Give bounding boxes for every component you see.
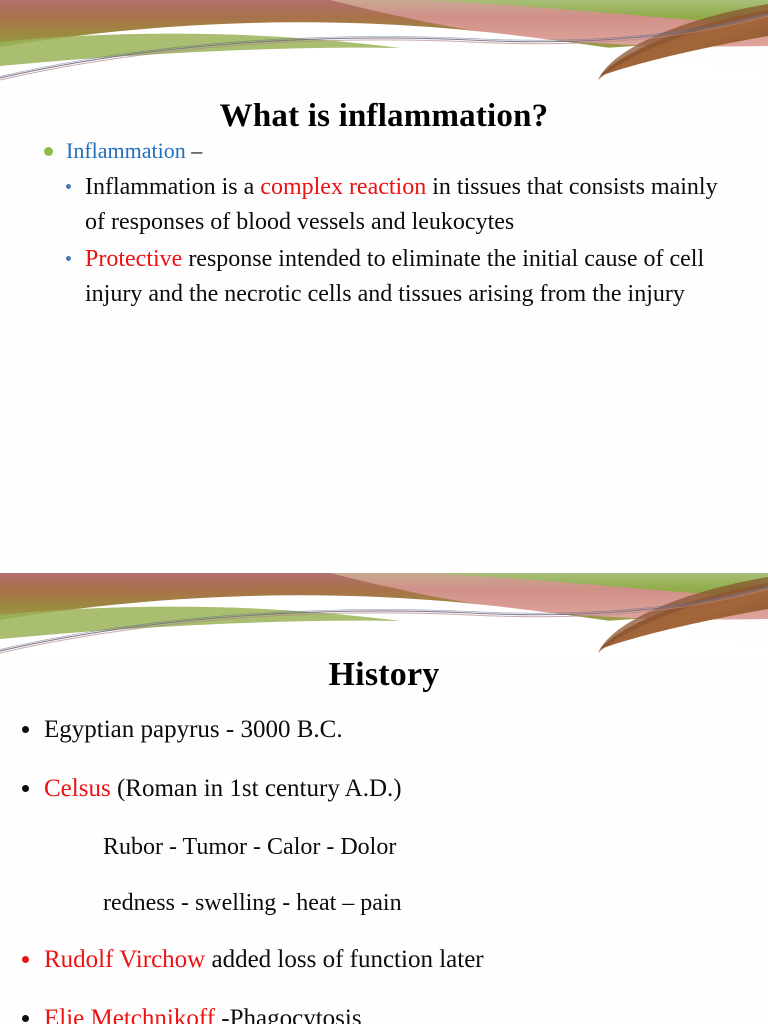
- green-dot-icon: [44, 147, 53, 156]
- slide-inflammation: What is inflammation? Inflammation – Inf…: [0, 0, 768, 570]
- bullet-text: Inflammation: [66, 138, 191, 163]
- black-dot-icon: [22, 785, 29, 792]
- list-item-text: added loss of function later: [205, 946, 483, 973]
- blue-dot-icon: [66, 184, 71, 189]
- bullet-level1-inflammation: Inflammation –: [0, 138, 768, 164]
- slide-history: History Egyptian papyrus - 3000 B.C. Cel…: [0, 573, 768, 1024]
- list-item-text: Rubor - Tumor - Calor - Dolor: [103, 834, 396, 860]
- bullet-dash: –: [191, 138, 202, 163]
- bullet-text-segment: Inflammation is a: [85, 174, 260, 200]
- slide-2-header-decoration: [0, 573, 768, 659]
- page-title: History: [0, 656, 768, 693]
- list-item-text: Egyptian papyrus - 3000 B.C.: [44, 716, 343, 743]
- list-item: Elie Metchnikoff -Phagocytosis: [0, 1004, 768, 1024]
- bullet-level2-definition: Inflammation is a complex reaction in ti…: [0, 170, 768, 240]
- red-dot-icon: [22, 956, 29, 963]
- page-title: What is inflammation?: [0, 98, 768, 134]
- blue-dot-icon: [66, 256, 71, 261]
- bullet-text-highlight: complex reaction: [260, 174, 426, 200]
- list-item-name: Rudolf Virchow: [44, 946, 205, 973]
- list-item-text: -Phagocytosis: [215, 1005, 362, 1024]
- list-item-text: (Roman in 1st century A.D.): [111, 775, 402, 802]
- list-item: Egyptian papyrus - 3000 B.C.: [0, 715, 768, 745]
- list-item-sub: Rubor - Tumor - Calor - Dolor: [0, 833, 768, 862]
- list-item-text: redness - swelling - heat – pain: [103, 890, 402, 916]
- list-item: Rudolf Virchow added loss of function la…: [0, 945, 768, 975]
- slide-2-body: Egyptian papyrus - 3000 B.C. Celsus (Rom…: [0, 715, 768, 1024]
- slide-1-body: Inflammation – Inflammation is a complex…: [0, 138, 768, 314]
- black-dot-icon: [22, 1015, 29, 1022]
- list-item: Celsus (Roman in 1st century A.D.): [0, 774, 768, 804]
- slide-deck: What is inflammation? Inflammation – Inf…: [0, 0, 768, 1024]
- bullet-text-highlight: Protective: [85, 246, 182, 272]
- list-item-name: Celsus: [44, 775, 111, 802]
- swoosh-graphic: [0, 573, 768, 659]
- list-item-name: Elie Metchnikoff: [44, 1005, 215, 1024]
- list-item-sub: redness - swelling - heat – pain: [0, 889, 768, 918]
- bullet-level2-protective: Protective response intended to eliminat…: [0, 242, 768, 312]
- slide-1-header-decoration: [0, 0, 768, 86]
- black-dot-icon: [22, 726, 29, 733]
- swoosh-graphic: [0, 0, 768, 86]
